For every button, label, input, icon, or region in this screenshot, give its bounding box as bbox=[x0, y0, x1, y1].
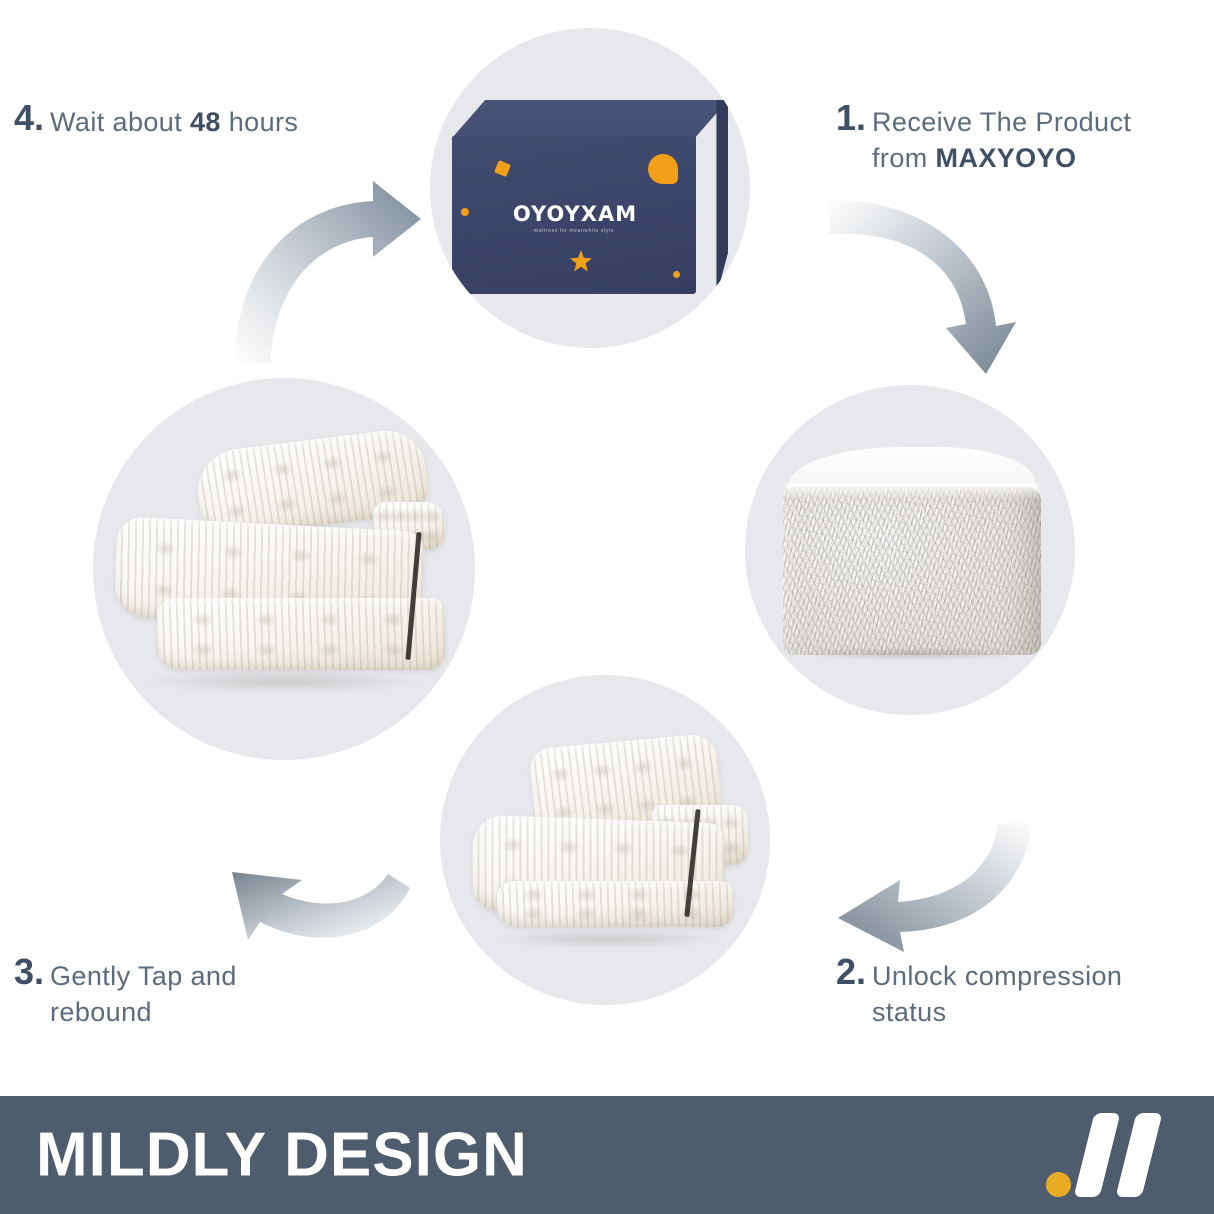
step-4-number: 4. bbox=[14, 101, 44, 136]
step-4-label: 4. Wait about 48 hours bbox=[14, 104, 414, 140]
step-3-line2: rebound bbox=[50, 997, 152, 1027]
step-4-hours-value: 48 bbox=[190, 107, 221, 137]
step-2-text: Unlock compression status bbox=[872, 958, 1122, 1031]
shipping-box: MAXYOYO mattress for meanwhile style bbox=[452, 100, 728, 296]
banner-title: MILDLY DESIGN bbox=[36, 1120, 528, 1191]
arrow-step4-to-step1 bbox=[225, 175, 425, 365]
step-3-image-circle bbox=[440, 675, 770, 1005]
step-3-label: 3. Gently Tap and rebound bbox=[14, 958, 344, 1031]
box-decoration-ball bbox=[648, 154, 678, 184]
logo-bar-right bbox=[1116, 1113, 1163, 1197]
step-1-label: 1. Receive The Product from MAXYOYO bbox=[836, 104, 1208, 177]
box-brand-logo: MAXYOYO mattress for meanwhile style bbox=[512, 202, 636, 234]
step-3-line1: Gently Tap and bbox=[50, 961, 237, 991]
box-front-face: MAXYOYO mattress for meanwhile style bbox=[452, 136, 696, 294]
step-1-number: 1. bbox=[836, 101, 866, 136]
sofa-shadow bbox=[488, 929, 728, 949]
block-shadow bbox=[799, 647, 1027, 661]
step-2-label: 2. Unlock compression status bbox=[836, 958, 1208, 1031]
step-1-line2-prefix: from bbox=[872, 143, 936, 173]
logo-bar-left bbox=[1074, 1113, 1121, 1197]
step-2-line2: status bbox=[872, 997, 946, 1027]
arrow-step3-to-step4 bbox=[198, 772, 413, 962]
step-4-image-circle bbox=[93, 378, 475, 760]
box-brand-tagline: mattress for meanwhile style bbox=[512, 228, 636, 234]
box-decoration-square bbox=[494, 160, 511, 177]
fully-expanded-sofa bbox=[111, 440, 461, 700]
sofa-base bbox=[496, 881, 734, 927]
step-2-number: 2. bbox=[836, 955, 866, 990]
logo-dot bbox=[1046, 1172, 1071, 1197]
arrow-step1-to-step2 bbox=[826, 186, 1031, 376]
compressed-block bbox=[783, 447, 1041, 657]
step-3-number: 3. bbox=[14, 955, 44, 990]
box-decoration-mini-dot bbox=[673, 271, 680, 278]
step-2-image-circle bbox=[745, 385, 1075, 715]
box-top-face bbox=[452, 100, 728, 138]
sofa-shadow bbox=[141, 670, 427, 694]
step-4-text: Wait about 48 hours bbox=[50, 104, 298, 140]
diagram-canvas: MAXYOYO mattress for meanwhile style bbox=[0, 0, 1214, 1214]
box-brand-word: MAXYOYO bbox=[512, 202, 636, 226]
base-tufting bbox=[496, 881, 734, 927]
partially-expanded-sofa bbox=[462, 741, 758, 951]
step-4-text-pre: Wait about bbox=[50, 107, 190, 137]
step-1-line1: Receive The Product bbox=[872, 107, 1131, 137]
step-1-image-circle: MAXYOYO mattress for meanwhile style bbox=[430, 28, 750, 348]
step-2-line1: Unlock compression bbox=[872, 961, 1122, 991]
step-3-text: Gently Tap and rebound bbox=[50, 958, 237, 1031]
block-body bbox=[783, 487, 1041, 655]
lower-block-tufting bbox=[157, 598, 445, 670]
step-4-text-post: hours bbox=[221, 107, 298, 137]
step-1-brand: MAXYOYO bbox=[936, 143, 1077, 173]
sofa-lower-block bbox=[157, 598, 445, 670]
arrow-step2-to-step3 bbox=[826, 820, 1036, 960]
bottom-banner: MILDLY DESIGN bbox=[0, 1096, 1214, 1214]
step-1-text: Receive The Product from MAXYOYO bbox=[872, 104, 1131, 177]
mildly-design-logo-icon bbox=[1042, 1109, 1170, 1201]
block-seal-edge bbox=[785, 483, 1039, 499]
box-decoration-dot bbox=[461, 208, 469, 216]
box-decoration-star bbox=[570, 250, 592, 272]
